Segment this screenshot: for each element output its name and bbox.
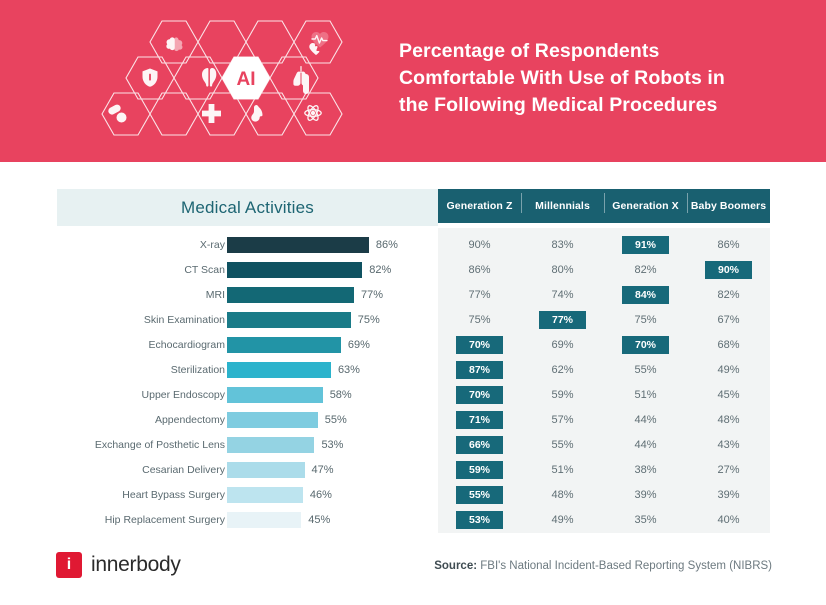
table-cell-highlighted: 71% [438,411,521,429]
bar-fill [227,512,301,528]
bar-value-label: 63% [338,364,360,376]
table-row: 66%55%44%43% [438,432,770,457]
bar-chart-row: Echocardiogram69% [57,332,438,357]
column-header-1[interactable]: Generation Z [438,200,521,212]
table-cell: 40% [687,514,770,526]
bar-chart-row: CT Scan82% [57,257,438,282]
table-cell: 43% [687,439,770,451]
bar-chart-row: Upper Endoscopy58% [57,382,438,407]
highlight-badge: 84% [622,286,669,304]
bar-chart-row: Appendectomy55% [57,407,438,432]
table-row: 75%77%75%67% [438,307,770,332]
bar-row-label: Exchange of Posthetic Lens [95,432,225,457]
page-title-line-2: Comfortable With Use of Robots in [399,65,799,92]
logo-mark-icon: i [56,552,82,578]
table-cell-highlighted: 87% [438,361,521,379]
table-cell: 82% [687,289,770,301]
bar-value-label: 45% [308,514,330,526]
bar-row-label: X-ray [200,232,225,257]
highlight-badge: 70% [456,336,503,354]
logo-wordmark: innerbody [91,553,181,577]
bar-chart-row: Skin Examination75% [57,307,438,332]
bar-row-label: Sterilization [171,357,225,382]
highlight-badge: 91% [622,236,669,254]
table-cell: 67% [687,314,770,326]
highlight-badge: 53% [456,511,503,529]
table-cell-highlighted: 70% [604,336,687,354]
bar-chart-row: Cesarian Delivery47% [57,457,438,482]
bar-row-label: Cesarian Delivery [142,457,225,482]
table-cell: 62% [521,364,604,376]
page-title: Percentage of Respondents Comfortable Wi… [399,38,799,119]
table-row: 71%57%44%48% [438,407,770,432]
table-cell: 39% [687,489,770,501]
source-text: FBI's National Incident-Based Reporting … [480,560,772,572]
table-cell: 35% [604,514,687,526]
bar-value-label: 53% [321,439,343,451]
bar-track: 58% [227,382,438,407]
bar-track: 63% [227,357,438,382]
bar-chart-row: Hip Replacement Surgery45% [57,507,438,532]
table-cell: 39% [604,489,687,501]
bar-track: 47% [227,457,438,482]
table-cell: 75% [438,314,521,326]
page-title-line-3: the Following Medical Procedures [399,92,799,119]
table-cell: 59% [521,389,604,401]
bar-row-label: MRI [206,282,225,307]
bar-value-label: 77% [361,289,383,301]
bar-fill [227,487,303,503]
bar-chart-row: X-ray86% [57,232,438,257]
highlight-badge: 66% [456,436,503,454]
table-cell: 83% [521,239,604,251]
bar-fill [227,387,323,403]
table-row: 70%69%70%68% [438,332,770,357]
bar-fill [227,412,318,428]
table-row: 55%48%39%39% [438,482,770,507]
table-cell: 86% [438,264,521,276]
source-note: Source: FBI's National Incident-Based Re… [434,560,772,572]
bar-row-label: Echocardiogram [149,332,225,357]
table-cell-highlighted: 59% [438,461,521,479]
table-row: 87%62%55%49% [438,357,770,382]
highlight-badge: 59% [456,461,503,479]
table-cell: 45% [687,389,770,401]
highlight-badge: 70% [622,336,669,354]
bar-track: 75% [227,307,438,332]
brain-icon [166,37,182,51]
table-cell: 86% [687,239,770,251]
bar-row-label: Heart Bypass Surgery [122,482,225,507]
bar-row-label: CT Scan [184,257,225,282]
table-cell: 44% [604,414,687,426]
highlight-badge: 55% [456,486,503,504]
table-cell: 57% [521,414,604,426]
table-row: 77%74%84%82% [438,282,770,307]
bar-chart-row: Sterilization63% [57,357,438,382]
table-cell: 55% [604,364,687,376]
table-cell: 90% [438,239,521,251]
table-cell-highlighted: 70% [438,336,521,354]
bar-value-label: 47% [312,464,334,476]
bar-fill [227,262,362,278]
bar-row-label: Skin Examination [144,307,225,332]
test-tube-icon [303,74,309,94]
bar-fill [227,237,369,253]
source-label: Source: [434,560,477,572]
table-cell: 49% [687,364,770,376]
page-title-line-1: Percentage of Respondents [399,38,799,65]
table-cell-highlighted: 53% [438,511,521,529]
bar-value-label: 75% [358,314,380,326]
bar-fill [227,337,341,353]
bar-value-label: 69% [348,339,370,351]
table-cell: 55% [521,439,604,451]
header-banner: AI Percentage of Respondents Comfortable… [0,0,826,162]
table-cell: 38% [604,464,687,476]
highlight-badge: 87% [456,361,503,379]
table-cell: 51% [521,464,604,476]
table-cell: 80% [521,264,604,276]
table-cell-highlighted: 66% [438,436,521,454]
table-row: 59%51%38%27% [438,457,770,482]
table-cell: 74% [521,289,604,301]
bar-track: 86% [227,232,438,257]
table-cell: 82% [604,264,687,276]
table-cell-highlighted: 77% [521,311,604,329]
bar-row-label: Upper Endoscopy [142,382,225,407]
table-row: 70%59%51%45% [438,382,770,407]
bar-track: 46% [227,482,438,507]
ai-hexagon-label: AI [237,69,256,90]
bar-row-label: Hip Replacement Surgery [105,507,225,532]
bar-chart-row: Heart Bypass Surgery46% [57,482,438,507]
hexagon-honeycomb-svg: AI [96,16,346,146]
table-cell-highlighted: 84% [604,286,687,304]
table-cell: 69% [521,339,604,351]
generation-columns-header: Generation ZMillennialsGeneration XBaby … [438,189,770,223]
bar-fill [227,287,354,303]
bar-value-label: 86% [376,239,398,251]
bar-track: 77% [227,282,438,307]
table-row: 86%80%82%90% [438,257,770,282]
bar-row-label: Appendectomy [155,407,225,432]
bar-value-label: 55% [325,414,347,426]
bar-track: 53% [227,432,438,457]
column-header-4[interactable]: Baby Boomers [687,200,770,212]
bar-chart-row: MRI77% [57,282,438,307]
table-cell: 49% [521,514,604,526]
table-row: 53%49%35%40% [438,507,770,532]
table-cell: 44% [604,439,687,451]
shield-icon [143,69,158,87]
table-cell: 75% [604,314,687,326]
bar-track: 45% [227,507,438,532]
bar-fill [227,437,314,453]
column-header-3[interactable]: Generation X [604,200,687,212]
bar-fill [227,462,305,478]
medical-activities-header: Medical Activities [57,189,438,226]
pills-icon [107,103,126,122]
bar-value-label: 46% [310,489,332,501]
atom-icon [305,104,321,122]
highlight-badge: 70% [456,386,503,404]
table-cell-highlighted: 55% [438,486,521,504]
medical-activities-title: Medical Activities [57,189,438,226]
column-header-2[interactable]: Millennials [521,200,604,212]
innerbody-logo[interactable]: i innerbody [56,552,181,578]
bar-chart: X-ray86%CT Scan82%MRI77%Skin Examination… [57,232,438,532]
highlight-badge: 71% [456,411,503,429]
table-row: 90%83%91%86% [438,232,770,257]
stomach-icon [251,105,262,122]
table-cell: 48% [521,489,604,501]
table-cell-highlighted: 90% [687,261,770,279]
medical-hexagon-icon-cluster: AI [96,16,346,146]
bar-value-label: 58% [330,389,352,401]
table-cell: 51% [604,389,687,401]
table-cell: 68% [687,339,770,351]
bar-chart-row: Exchange of Posthetic Lens53% [57,432,438,457]
highlight-badge: 90% [705,261,752,279]
generation-data-table: 90%83%91%86%86%80%82%90%77%74%84%82%75%7… [438,228,770,533]
highlight-badge: 77% [539,311,586,329]
bar-fill [227,362,331,378]
table-cell: 48% [687,414,770,426]
table-cell-highlighted: 91% [604,236,687,254]
bar-fill [227,312,351,328]
bar-track: 69% [227,332,438,357]
bar-track: 55% [227,407,438,432]
bar-value-label: 82% [369,264,391,276]
bar-track: 82% [227,257,438,282]
table-cell: 27% [687,464,770,476]
table-cell: 77% [438,289,521,301]
kidneys-icon [202,68,216,87]
medical-cross-icon [202,104,221,123]
table-cell-highlighted: 70% [438,386,521,404]
